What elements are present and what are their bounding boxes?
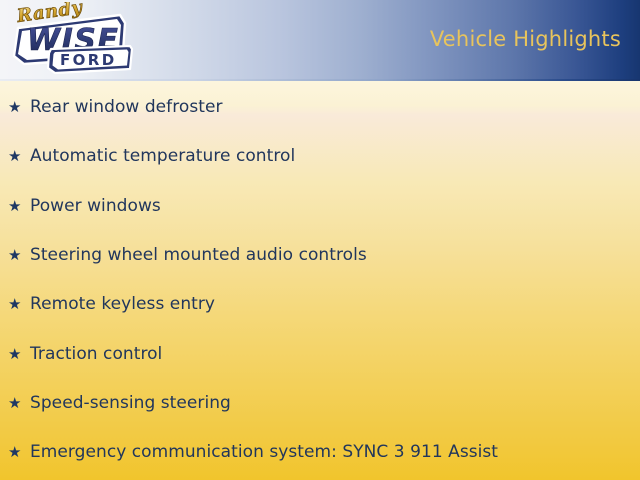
star-icon: ★ — [8, 297, 30, 312]
randy-wise-ford-logo: WISE FORD Randy — [4, 2, 134, 76]
list-item: ★ Remote keyless entry — [0, 280, 640, 329]
list-item: ★ Steering wheel mounted audio controls — [0, 231, 640, 280]
list-item: ★ Speed-sensing steering — [0, 379, 640, 428]
list-item-label: Remote keyless entry — [30, 294, 640, 315]
list-item: ★ Traction control — [0, 329, 640, 378]
star-icon: ★ — [8, 347, 30, 362]
list-item-label: Emergency communication system: SYNC 3 9… — [30, 442, 640, 463]
header-bar: WISE FORD Randy Vehicle Highlights — [0, 0, 640, 79]
list-item-label: Traction control — [30, 344, 640, 365]
list-item: ★ Emergency communication system: SYNC 3… — [0, 428, 640, 477]
vehicle-highlights-slide: WISE FORD Randy Vehicle Highlights ★ Rea — [0, 0, 640, 480]
star-icon: ★ — [8, 149, 30, 164]
page-title: Vehicle Highlights — [430, 27, 621, 52]
star-icon: ★ — [8, 396, 30, 411]
list-item-label: Power windows — [30, 196, 640, 217]
list-item: ★ Rear window defroster — [0, 83, 640, 132]
list-item: ★ Automatic temperature control — [0, 132, 640, 181]
header-divider — [0, 79, 640, 81]
logo-ford-banner: FORD — [48, 46, 132, 73]
star-icon: ★ — [8, 199, 30, 214]
vehicle-highlights-list: ★ Rear window defroster ★ Automatic temp… — [0, 83, 640, 477]
svg-text:FORD: FORD — [60, 51, 117, 69]
list-item-label: Automatic temperature control — [30, 146, 640, 167]
star-icon: ★ — [8, 100, 30, 115]
star-icon: ★ — [8, 445, 30, 460]
list-item-label: Rear window defroster — [30, 97, 640, 118]
star-icon: ★ — [8, 248, 30, 263]
list-item-label: Steering wheel mounted audio controls — [30, 245, 640, 266]
list-item-label: Speed-sensing steering — [30, 393, 640, 414]
list-item: ★ Power windows — [0, 182, 640, 231]
